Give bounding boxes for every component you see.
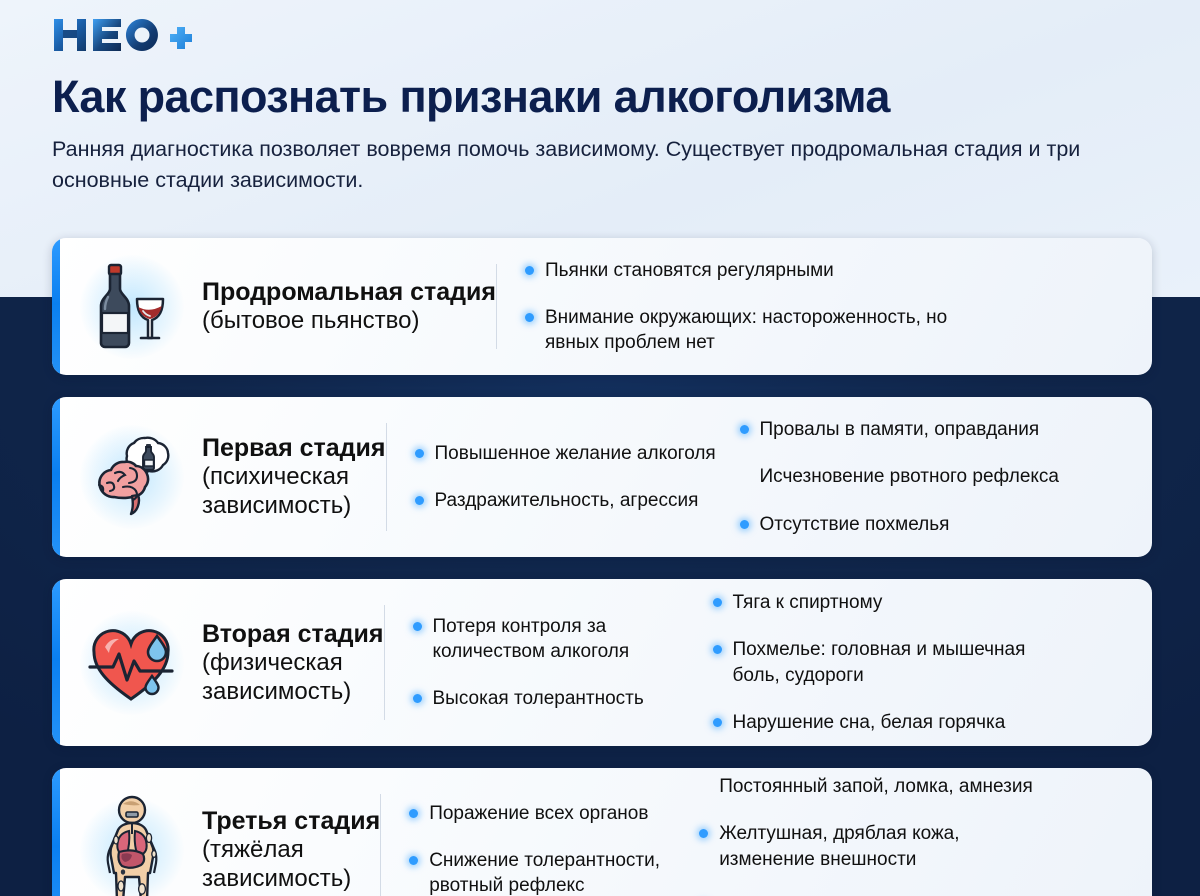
bullet-item: Тяга к спиртному (711, 590, 1071, 615)
page-header: Как распознать признаки алкоголизма Ранн… (0, 0, 1200, 195)
card-bullet-columns: Повышенное желание алкоголя Раздражитель… (387, 397, 1153, 557)
brand-logo (52, 14, 1148, 56)
bullet-item: Внимание окружающих: настороженность, но… (523, 305, 993, 356)
card-bullet-columns: Пьянки становятся регулярными Внимание о… (497, 238, 1152, 375)
bullet-item: Отсутствие похмелья (738, 512, 1068, 537)
bullet-column: Пьянки становятся регулярными Внимание о… (523, 247, 993, 367)
card-left-block: Продромальная стадия (бытовое пьянство) (52, 238, 496, 375)
stage-card-first-stage[interactable]: Первая стадия (психическая зависимость) … (52, 397, 1152, 557)
page-subtitle: Ранняя диагностика позволяет вовремя пом… (52, 134, 1082, 195)
stage-subtitle: (физическая зависимость) (202, 649, 384, 707)
stage-subtitle: (психическая зависимость) (202, 463, 386, 521)
bullet-column: Поражение всех органов Снижение толерант… (407, 790, 697, 896)
card-left-block: Третья стадия (тяжёлая зависимость) (52, 768, 380, 896)
bullet-item: Повышенное желание алкоголя (413, 441, 738, 466)
stage-title: Первая стадия (202, 433, 386, 463)
bullet-column: Потеря контроля за количеством алкоголя … (411, 603, 711, 723)
wine-bottle-and-glass-icon (80, 255, 184, 359)
bullet-item: Высокая толерантность (411, 686, 711, 711)
stage-card-list: Продромальная стадия (бытовое пьянство) … (52, 238, 1152, 896)
bullet-item: Желтушная, дряблая кожа, изменение внешн… (697, 821, 1057, 872)
stage-card-prodromal[interactable]: Продромальная стадия (бытовое пьянство) … (52, 238, 1152, 375)
bullet-item: Похмелье: головная и мышечная боль, судо… (711, 637, 1071, 688)
bullet-item: Провалы в памяти, оправдания (738, 417, 1068, 442)
heo-plus-logo-icon (52, 15, 207, 55)
bullet-item: Постоянный запой, ломка, амнезия (697, 774, 1057, 799)
bullet-column: Постоянный запой, ломка, амнезия Желтушн… (697, 768, 1057, 896)
brain-with-thought-bubble-icon (80, 425, 184, 529)
card-accent-bar (52, 397, 60, 557)
card-accent-bar (52, 768, 60, 896)
bullet-column: Провалы в памяти, оправдания Исчезновени… (738, 406, 1068, 548)
stage-name-block: Третья стадия (тяжёлая зависимость) (202, 806, 380, 894)
page-title: Как распознать признаки алкоголизма (52, 72, 1148, 122)
card-bullet-columns: Потеря контроля за количеством алкоголя … (385, 579, 1153, 746)
stage-title: Продромальная стадия (202, 277, 496, 307)
bullet-item: Пьянки становятся регулярными (523, 258, 993, 283)
bullet-column: Повышенное желание алкоголя Раздражитель… (413, 430, 738, 525)
card-left-block: Первая стадия (психическая зависимость) (52, 397, 386, 557)
card-accent-bar (52, 579, 60, 746)
bullet-column: Тяга к спиртному Похмелье: головная и мы… (711, 579, 1071, 746)
bullet-item: Раздражительность, агрессия (413, 488, 738, 513)
stage-card-second-stage[interactable]: Вторая стадия (физическая зависимость) П… (52, 579, 1152, 746)
stage-name-block: Вторая стадия (физическая зависимость) (202, 619, 384, 707)
stage-name-block: Продромальная стадия (бытовое пьянство) (202, 277, 496, 336)
bullet-item: Поражение всех органов (407, 801, 697, 826)
bullet-item: Потеря контроля за количеством алкоголя (411, 614, 711, 665)
stage-subtitle: (бытовое пьянство) (202, 307, 496, 336)
card-left-block: Вторая стадия (физическая зависимость) (52, 579, 384, 746)
stage-subtitle: (тяжёлая зависимость) (202, 836, 380, 894)
bullet-item: Снижение толерантности, рвотный рефлекс (407, 848, 697, 896)
bullet-item: Исчезновение рвотного рефлекса (738, 464, 1068, 489)
card-accent-bar (52, 238, 60, 375)
stage-card-third-stage[interactable]: Третья стадия (тяжёлая зависимость) Пора… (52, 768, 1152, 896)
stage-title: Третья стадия (202, 806, 380, 836)
stage-title: Вторая стадия (202, 619, 384, 649)
stage-name-block: Первая стадия (психическая зависимость) (202, 433, 386, 521)
human-body-organs-icon (80, 798, 184, 896)
heart-with-pulse-icon (80, 611, 184, 715)
bullet-item: Нарушение сна, белая горячка (711, 710, 1071, 735)
card-bullet-columns: Поражение всех органов Снижение толерант… (381, 768, 1152, 896)
